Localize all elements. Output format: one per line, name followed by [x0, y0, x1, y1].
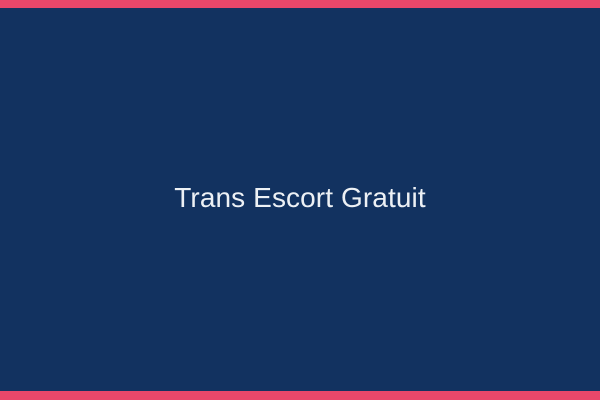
placeholder-image-card: Trans Escort Gratuit	[0, 0, 600, 400]
top-accent-bar	[0, 0, 600, 8]
bottom-accent-bar	[0, 391, 600, 400]
placeholder-title: Trans Escort Gratuit	[0, 181, 600, 215]
placeholder-canvas: Trans Escort Gratuit	[0, 8, 600, 391]
